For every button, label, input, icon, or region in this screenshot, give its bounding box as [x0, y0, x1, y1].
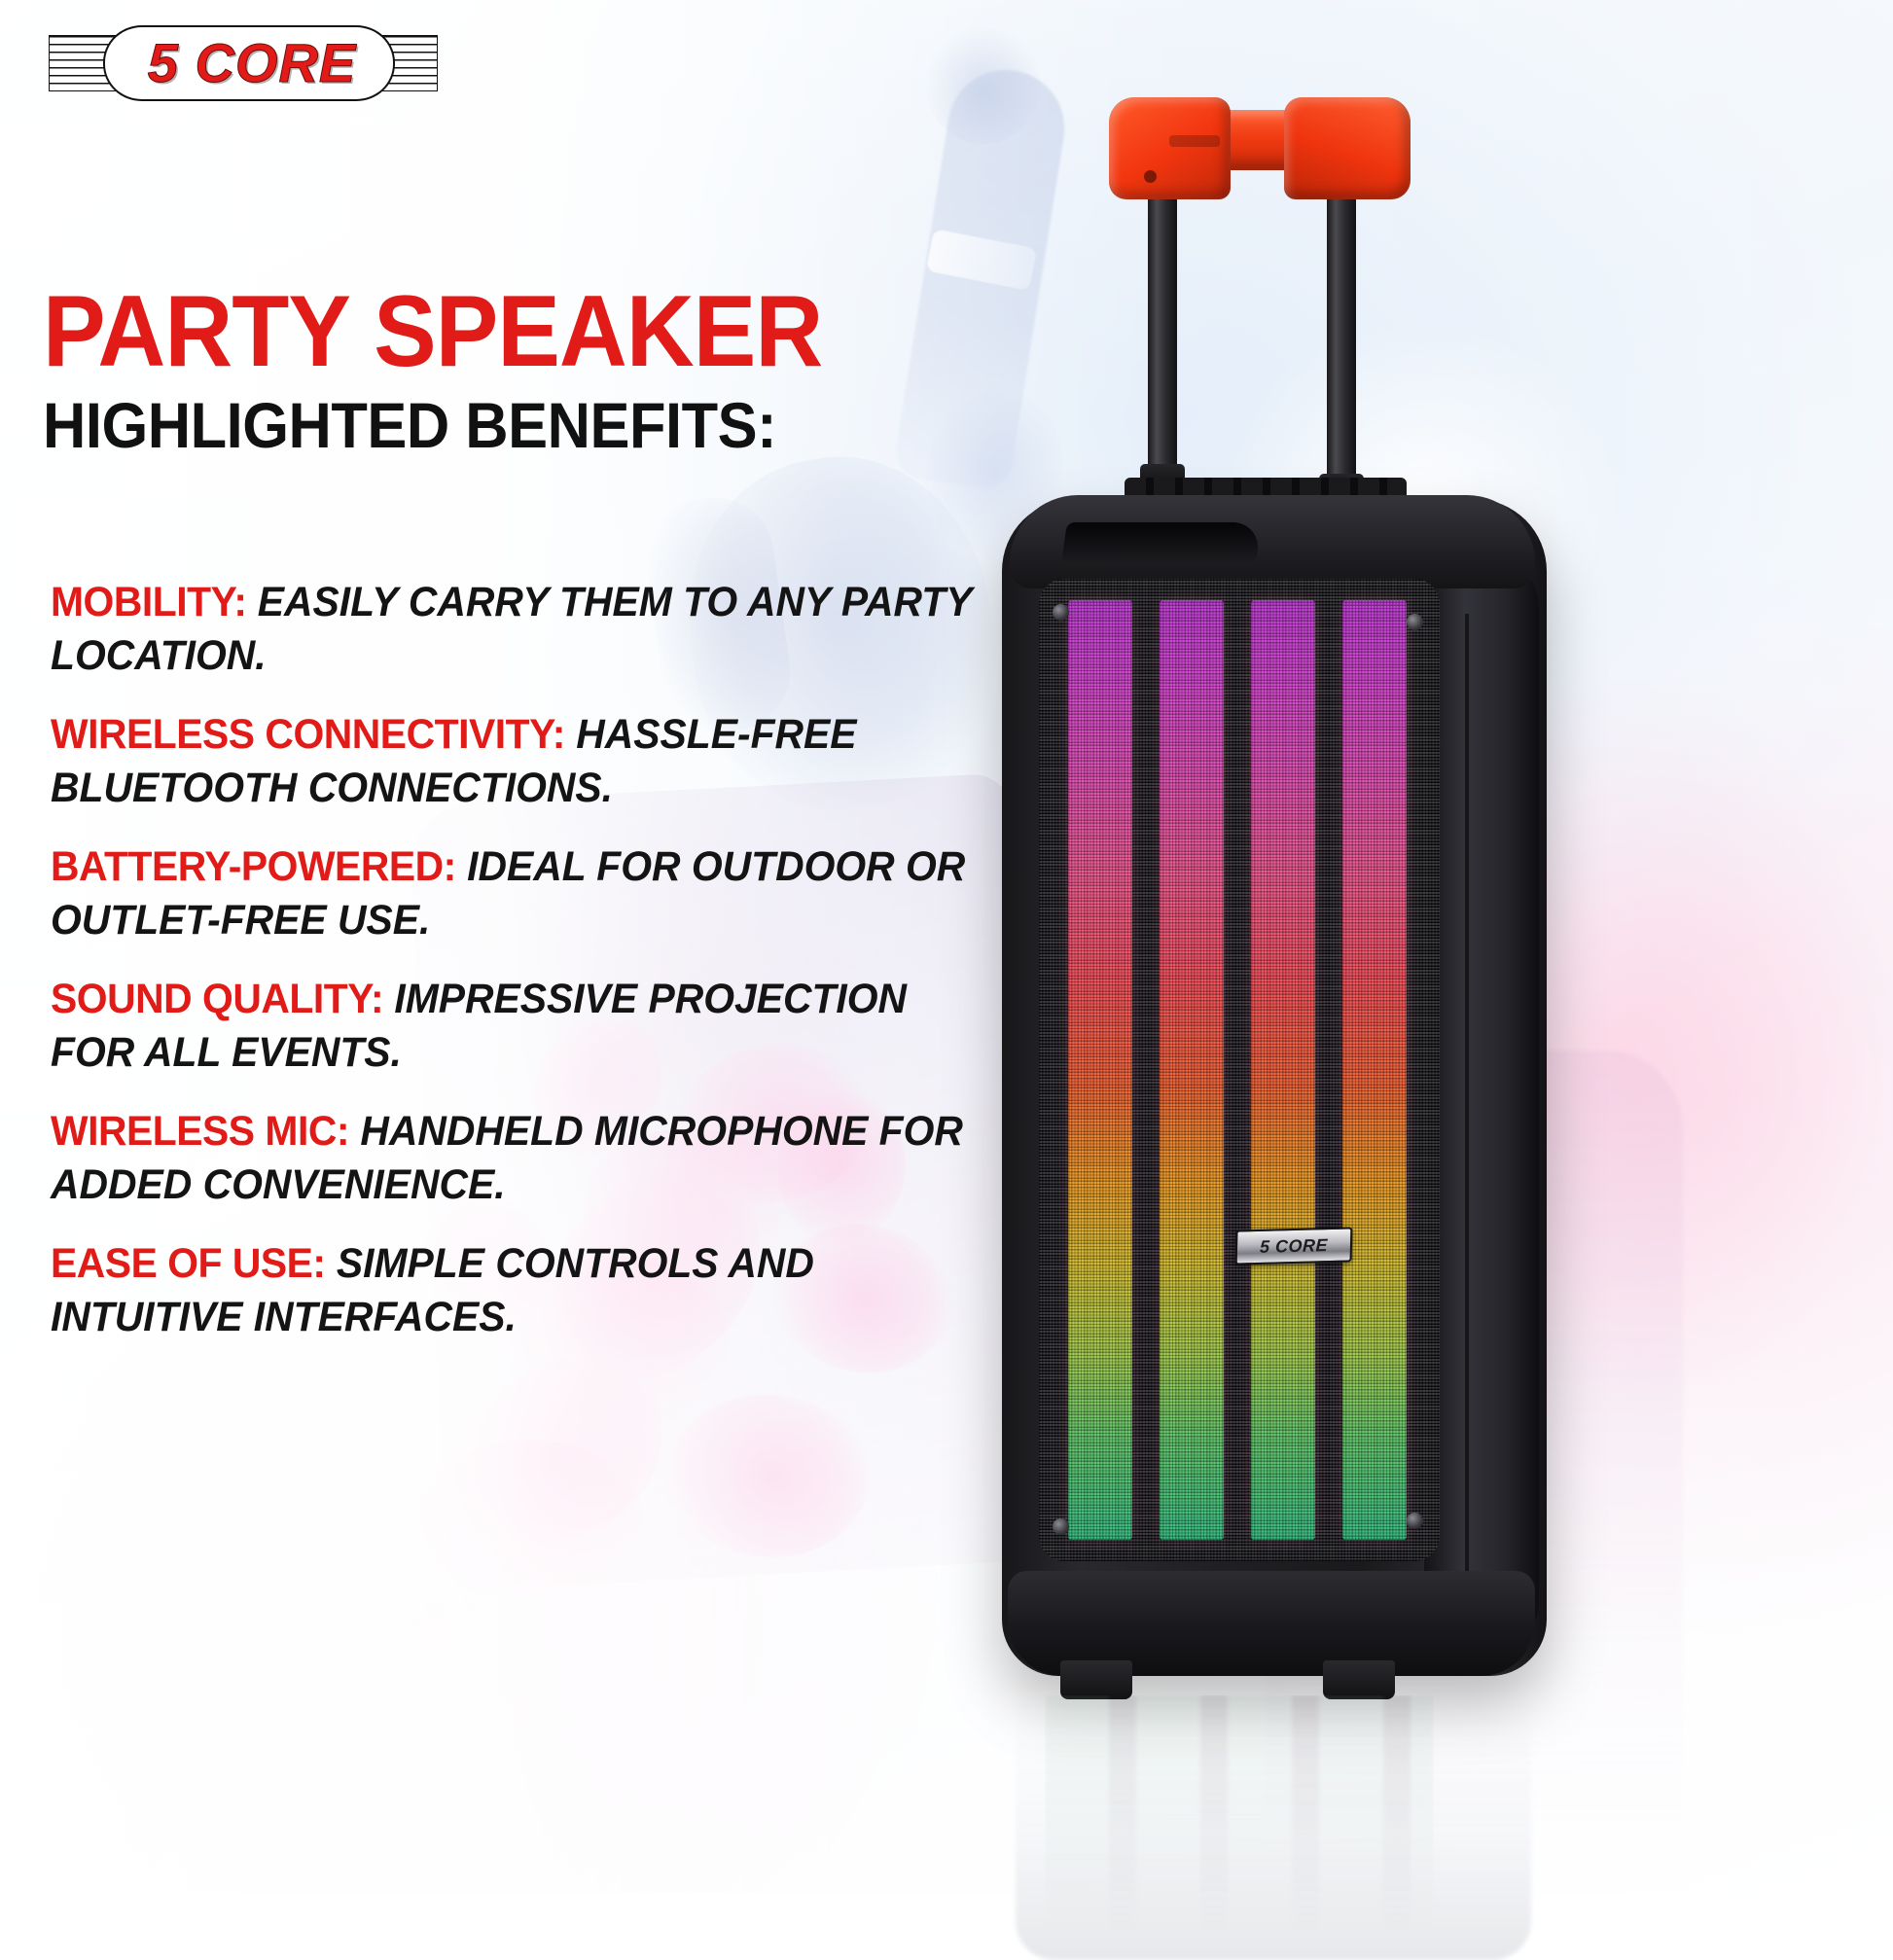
headline-block: PARTY SPEAKER HIGHLIGHTED BENEFITS: — [43, 284, 1016, 463]
benefit-item: BATTERY-POWERED: IDEAL FOR OUTDOOR OR OU… — [51, 840, 993, 947]
grille-screw — [1407, 1513, 1423, 1529]
trolley-pole-right — [1327, 186, 1356, 499]
speaker-side-panel — [1424, 552, 1539, 1651]
benefit-label: SOUND QUALITY: — [51, 976, 383, 1022]
speaker-foot — [1060, 1660, 1132, 1699]
led-light-bar — [1160, 600, 1224, 1540]
benefit-label: WIRELESS CONNECTIVITY: — [51, 711, 565, 758]
benefit-item: WIRELESS MIC: HANDHELD MICROPHONE FOR AD… — [51, 1105, 993, 1212]
benefit-item: EASE OF USE: SIMPLE CONTROLS AND INTUITI… — [51, 1237, 993, 1344]
grille-screw — [1053, 1518, 1069, 1535]
page-title: PARTY SPEAKER — [43, 284, 947, 381]
product-brand-badge-text: 5 CORE — [1260, 1235, 1329, 1258]
handle-notch — [1169, 135, 1220, 147]
speaker-reflection-bars — [1045, 1695, 1434, 1939]
speaker-side-seam — [1465, 614, 1469, 1627]
grille-screw — [1053, 604, 1069, 621]
grille-screw — [1407, 614, 1423, 630]
benefit-item: SOUND QUALITY: IMPRESSIVE PROJECTION FOR… — [51, 973, 993, 1080]
trolley-handle-grip-right — [1284, 97, 1411, 199]
benefit-item: WIRELESS CONNECTIVITY: HASSLE-FREE BLUET… — [51, 708, 993, 815]
speaker-top-handle-slot — [1061, 522, 1262, 563]
product-image-party-speaker: 5 CORE — [1002, 92, 1654, 1804]
trolley-pole-left — [1148, 186, 1177, 487]
benefit-label: EASE OF USE: — [51, 1240, 326, 1287]
handle-release-hole — [1144, 170, 1157, 183]
benefits-list: MOBILITY: EASILY CARRY THEM TO ANY PARTY… — [51, 576, 1043, 1370]
brand-logo: 5 CORE — [35, 21, 453, 105]
page-subtitle: HIGHLIGHTED BENEFITS: — [43, 389, 947, 463]
speaker-foot — [1323, 1660, 1395, 1699]
led-light-bar — [1342, 600, 1407, 1540]
speaker-grille — [1039, 579, 1440, 1561]
benefit-label: MOBILITY: — [51, 579, 246, 625]
benefit-label: WIRELESS MIC: — [51, 1108, 349, 1155]
benefit-label: BATTERY-POWERED: — [51, 843, 456, 890]
trolley-handle-grip-left — [1109, 97, 1231, 199]
led-light-bar — [1251, 600, 1315, 1540]
benefit-item: MOBILITY: EASILY CARRY THEM TO ANY PARTY… — [51, 576, 993, 683]
logo-text: 5 CORE — [111, 29, 393, 97]
led-light-bar — [1068, 600, 1132, 1540]
product-brand-badge: 5 CORE — [1235, 1227, 1353, 1265]
